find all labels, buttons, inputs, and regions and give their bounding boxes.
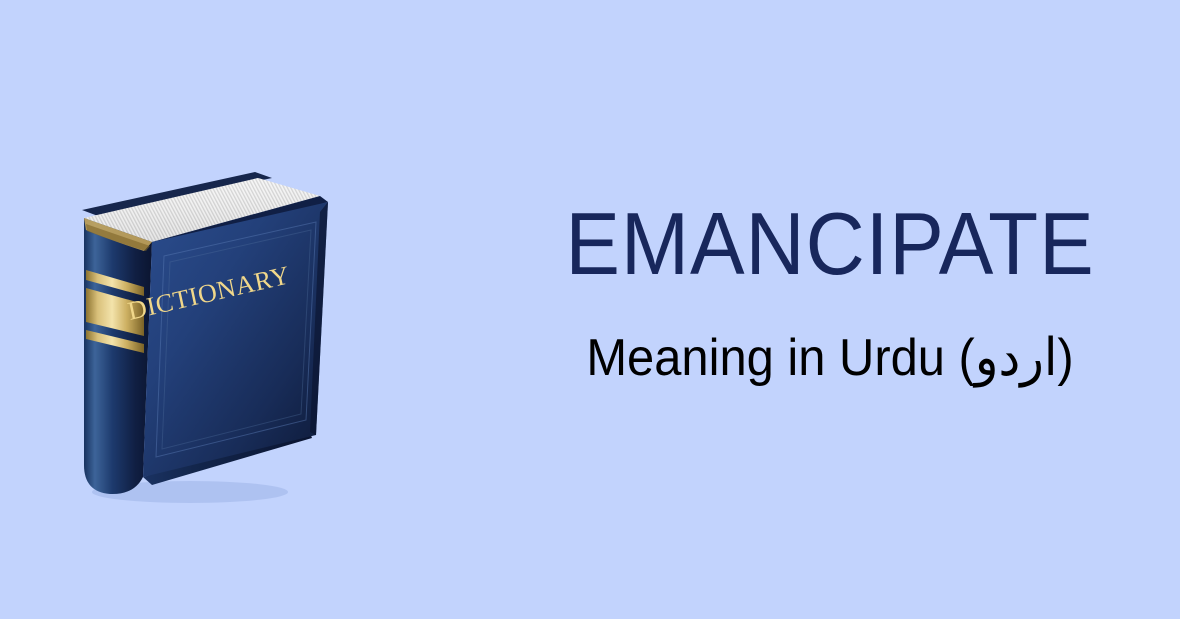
- book-spine: [84, 218, 152, 494]
- meaning-line: Meaning in Urdu (اردو): [520, 330, 1140, 387]
- meaning-language-native: (اردو): [959, 329, 1074, 387]
- word-text-block: EMANCIPATE Meaning in Urdu (اردو): [500, 200, 1160, 387]
- dictionary-book-illustration: DICTIONARY: [40, 120, 360, 520]
- meaning-label: Meaning in Urdu: [586, 329, 945, 387]
- word-meaning-banner: DICTIONARY EMANCIPATE Meaning in Urdu (ا…: [0, 0, 1180, 619]
- book-front-cover: [143, 202, 328, 477]
- headword: EMANCIPATE: [523, 200, 1137, 288]
